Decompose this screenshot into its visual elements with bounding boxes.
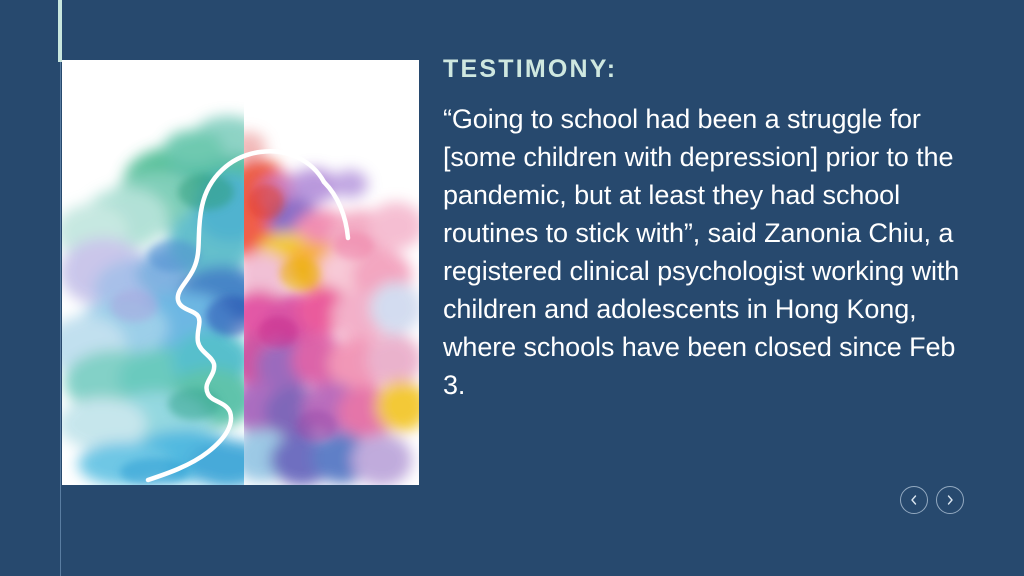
left-accent-line-bottom xyxy=(60,62,61,576)
chevron-left-icon xyxy=(908,494,920,506)
slide-navigation xyxy=(900,486,964,514)
testimony-quote: “Going to school had been a struggle for… xyxy=(443,100,973,404)
chevron-right-icon xyxy=(944,494,956,506)
previous-slide-button[interactable] xyxy=(900,486,928,514)
slide-canvas: TESTIMONY: “Going to school had been a s… xyxy=(0,0,1024,576)
watercolor-head-illustration xyxy=(62,60,419,485)
left-accent-line-top xyxy=(58,0,62,62)
testimony-text-column: TESTIMONY: “Going to school had been a s… xyxy=(443,54,973,404)
next-slide-button[interactable] xyxy=(936,486,964,514)
page-title: TESTIMONY: xyxy=(443,54,973,84)
